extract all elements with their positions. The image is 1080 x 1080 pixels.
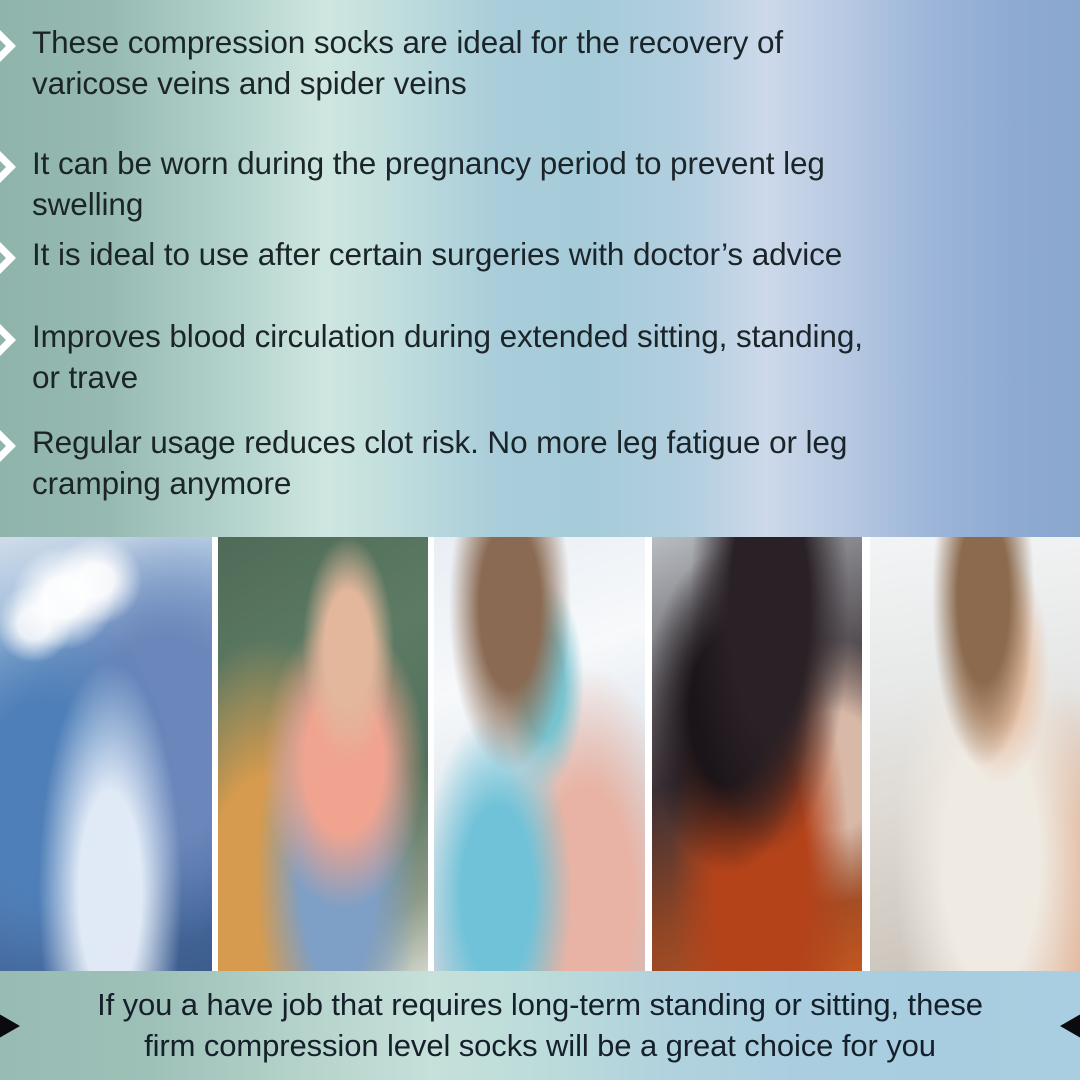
benefit-item-text: Improves blood circulation during extend…	[32, 316, 1080, 398]
bottom-banner: If you a have job that requires long-ter…	[0, 971, 1080, 1080]
benefit-item: It is ideal to use after certain surgeri…	[0, 234, 1080, 280]
photo-strip: Surgical team operating under bright the…	[0, 537, 1080, 971]
benefit-item-text: It is ideal to use after certain surgeri…	[32, 234, 1080, 275]
photo-image	[870, 537, 1080, 971]
chevron-right-icon	[0, 24, 32, 68]
benefit-item: Improves blood circulation during extend…	[0, 316, 1080, 398]
photo-image	[0, 537, 212, 971]
chevron-right-icon	[0, 145, 32, 189]
benefit-item-text: Regular usage reduces clot risk. No more…	[32, 422, 1080, 504]
benefit-item: Regular usage reduces clot risk. No more…	[0, 422, 1080, 504]
photo-image	[434, 537, 645, 971]
arrow-left-solid-icon	[1048, 1003, 1080, 1049]
arrow-right-solid-icon	[0, 1003, 32, 1049]
photo-panel-hairdresser-styling-hair: Hairdresser blow-drying a client's red h…	[652, 537, 862, 971]
banner-text: If you a have job that requires long-ter…	[53, 985, 1027, 1066]
photo-panel-surgeons-in-operating-room: Surgical team operating under bright the…	[0, 537, 212, 971]
chevron-right-icon	[0, 318, 32, 362]
benefit-item: These compression socks are ideal for th…	[0, 22, 1080, 104]
benefit-item-text: These compression socks are ideal for th…	[32, 22, 1080, 104]
photo-panel-dentist-treating-patient: Dentist in mask examining a patient's te…	[434, 537, 645, 971]
benefits-panel: These compression socks are ideal for th…	[0, 0, 1080, 537]
chevron-right-icon	[0, 424, 32, 468]
photo-image	[652, 537, 862, 971]
infographic-poster: These compression socks are ideal for th…	[0, 0, 1080, 1080]
benefits-list: These compression socks are ideal for th…	[0, 0, 1080, 537]
photo-image	[218, 537, 428, 971]
chevron-right-icon	[0, 236, 32, 280]
photo-panel-teacher-at-chalkboard: Teacher pointing while holding a tablet …	[218, 537, 428, 971]
benefit-item: It can be worn during the pregnancy peri…	[0, 143, 1080, 225]
photo-panel-pregnant-woman: Pregnant woman holding her belly	[870, 537, 1080, 971]
benefit-item-text: It can be worn during the pregnancy peri…	[32, 143, 1080, 225]
